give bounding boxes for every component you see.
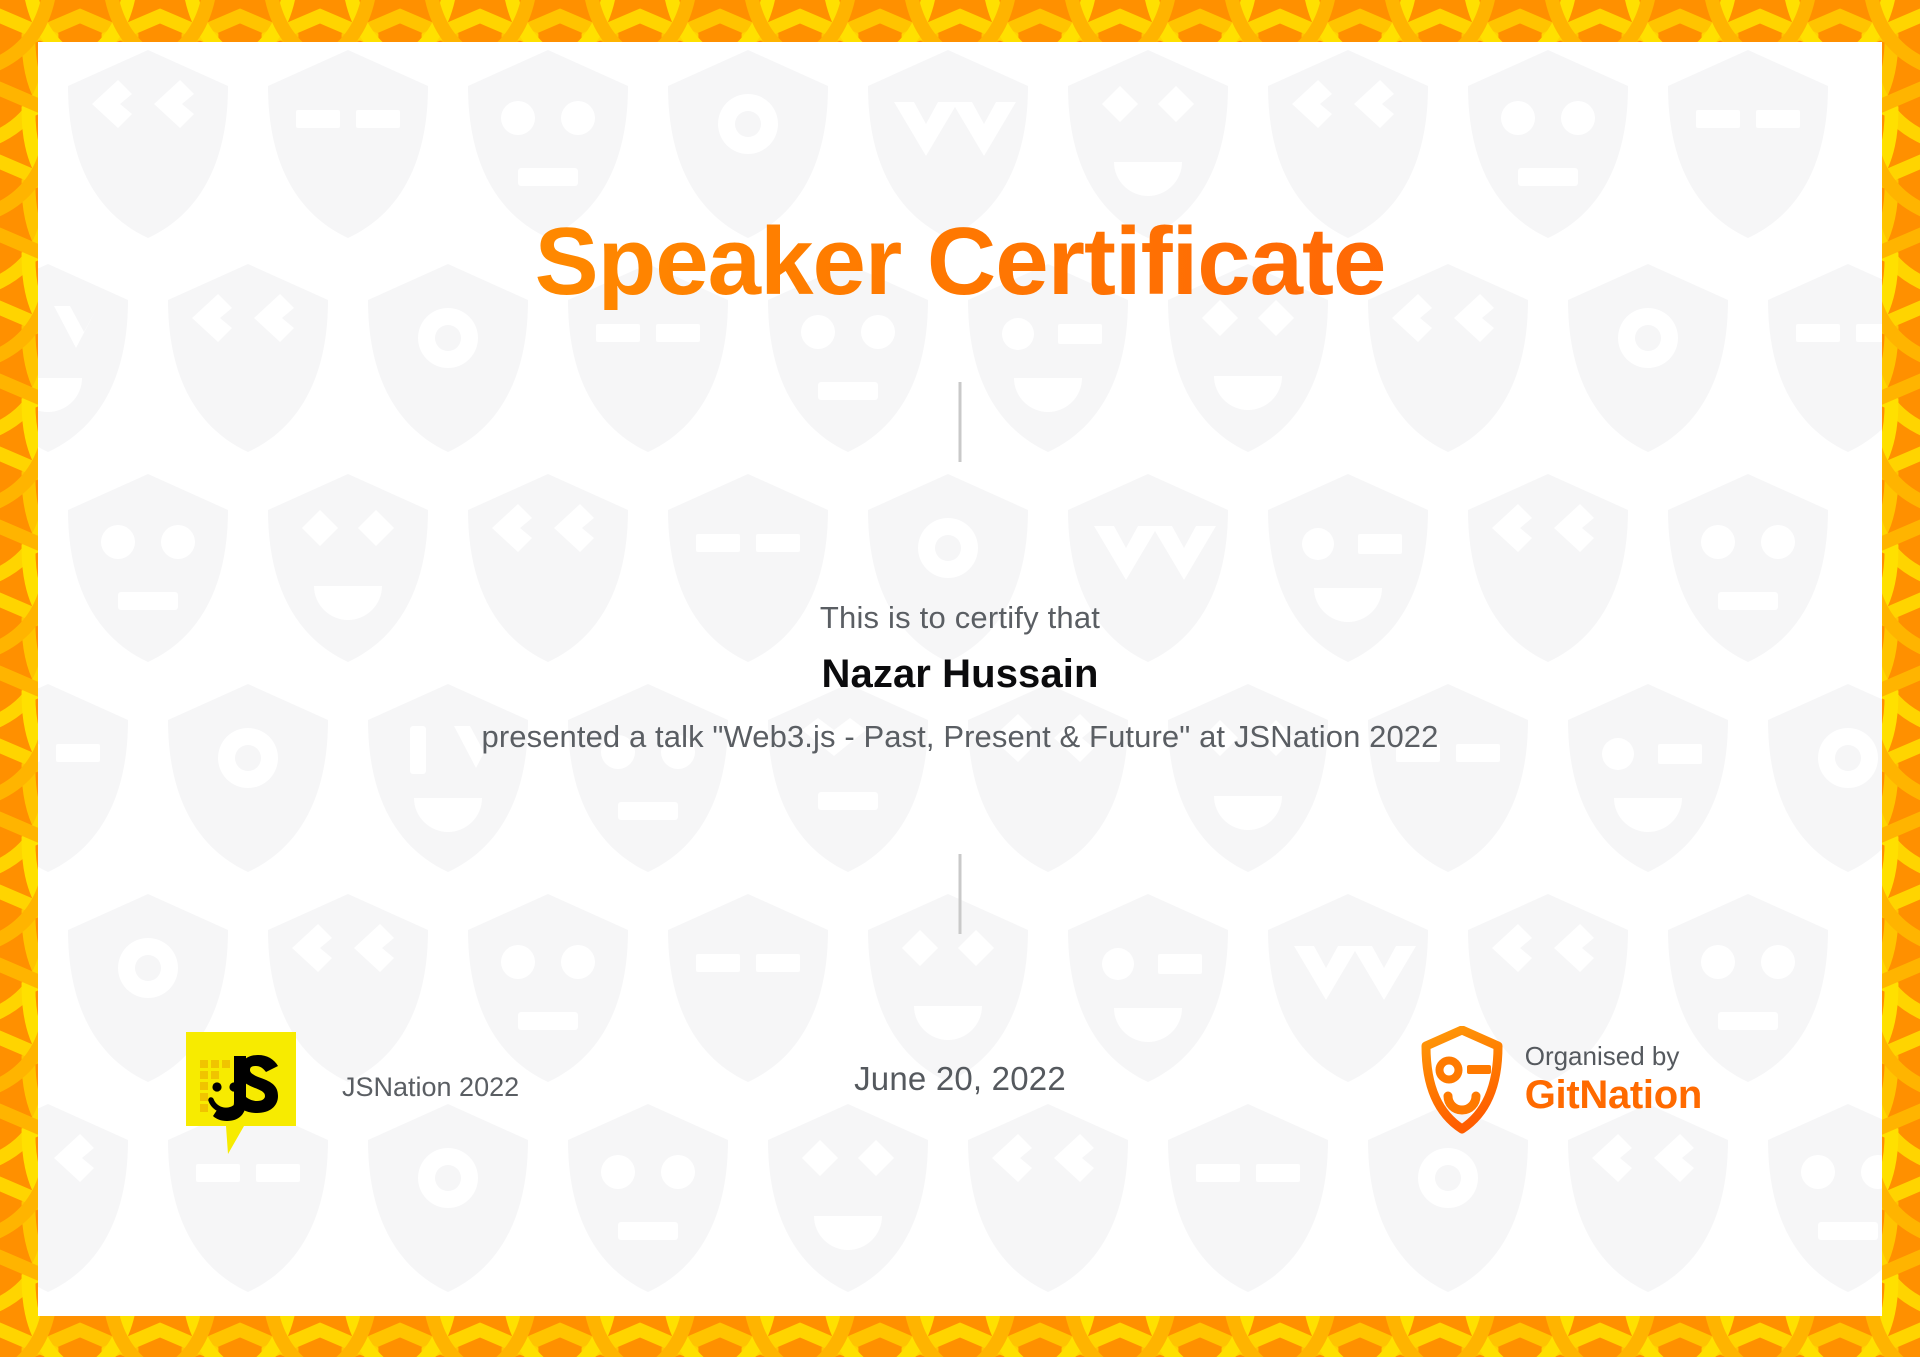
- speaker-certificate: Speaker Certificate This is to certify t…: [0, 0, 1920, 1357]
- divider-top: [959, 382, 962, 462]
- certify-line: This is to certify that: [38, 600, 1882, 636]
- gitnation-shield-icon: [1421, 1026, 1503, 1134]
- certificate-title: Speaker Certificate: [38, 214, 1882, 310]
- organiser-block: Organised by GitNation: [1421, 1026, 1702, 1134]
- talk-description: presented a talk "Web3.js - Past, Presen…: [38, 719, 1882, 755]
- organiser-prefix: Organised by: [1525, 1041, 1702, 1072]
- divider-bottom: [959, 854, 962, 934]
- organiser-text: Organised by GitNation: [1525, 1041, 1702, 1119]
- recipient-name: Nazar Hussain: [38, 652, 1882, 697]
- certificate-card: Speaker Certificate This is to certify t…: [38, 42, 1882, 1316]
- certificate-footer: JSNation 2022 June 20, 2022: [38, 1032, 1882, 1212]
- gitnation-shield-svg: [1421, 1026, 1503, 1134]
- organiser-name: GitNation: [1525, 1072, 1702, 1119]
